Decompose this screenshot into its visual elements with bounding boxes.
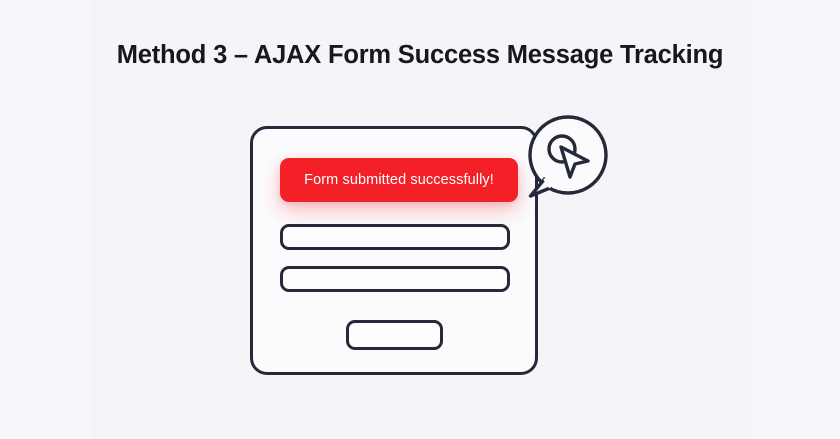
form-input-field-2[interactable] (280, 266, 510, 292)
success-message-text: Form submitted successfully! (304, 172, 494, 188)
screenshot-canvas: Method 3 – AJAX Form Success Message Tra… (0, 0, 840, 439)
success-message-banner: Form submitted successfully! (280, 158, 518, 202)
form-submit-button[interactable] (346, 320, 443, 350)
form-input-field-1[interactable] (280, 224, 510, 250)
ajax-form-success-tracking-illustration: Form submitted successfully! (0, 0, 840, 439)
tracking-speech-bubble (518, 104, 622, 208)
